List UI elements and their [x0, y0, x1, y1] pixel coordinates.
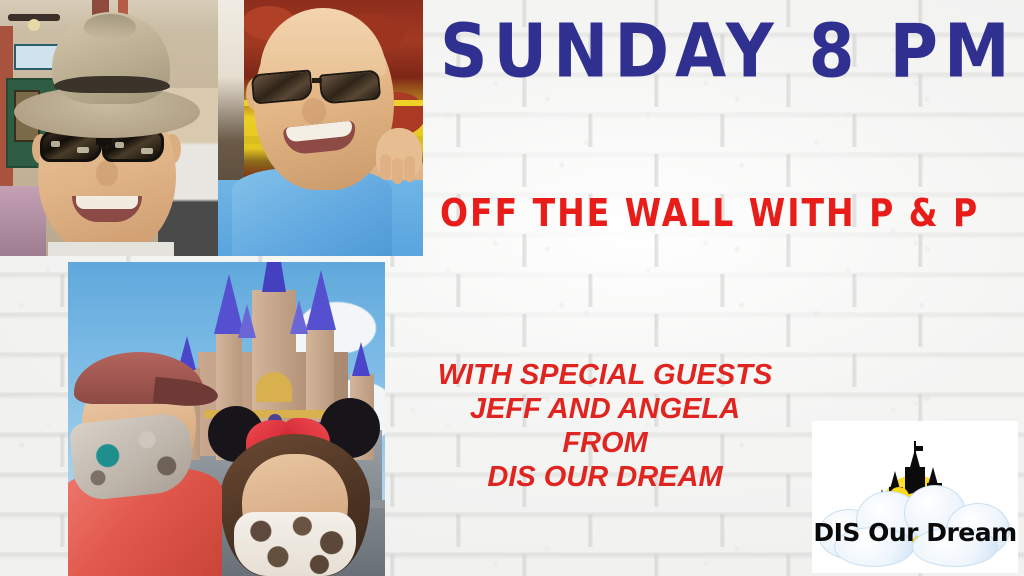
sunglass-lens-left — [251, 69, 313, 104]
finger — [392, 158, 403, 184]
finger — [380, 154, 391, 180]
boy-teeth — [76, 196, 138, 209]
guest-line-3: FROM — [410, 426, 800, 460]
castle-spire — [306, 270, 336, 330]
page-title: SUNDAY 8 PM — [440, 8, 1024, 94]
companion-hand — [376, 128, 422, 180]
woman-with-minnie-ears — [210, 412, 385, 576]
lens-glint — [77, 147, 89, 153]
photo-boy-fedora-sunglasses — [0, 0, 218, 256]
show-subtitle: OFF THE WALL WITH P & P — [440, 190, 1024, 235]
castle-flagpole — [914, 441, 916, 453]
finger — [404, 156, 415, 182]
dis-our-dream-logo: DIS Our Dream — [812, 421, 1018, 573]
promo-graphic: SUNDAY 8 PM OFF THE WALL WITH P & P WITH… — [0, 0, 1024, 576]
castle-gold-arch — [256, 372, 292, 402]
special-guests-block: WITH SPECIAL GUESTS JEFF AND ANGELA FROM… — [410, 358, 800, 494]
sunglass-lens-right — [319, 69, 381, 104]
lens-glint — [51, 141, 60, 147]
castle-spire — [352, 342, 370, 376]
logo-artwork: DIS Our Dream — [812, 421, 1018, 573]
woman-polka-dot-face-mask — [234, 512, 356, 576]
man-with-cap — [68, 356, 224, 576]
man-sunglasses-icon — [248, 72, 386, 104]
ceiling-fan-icon — [8, 14, 60, 21]
guest-line-2: JEFF AND ANGELA — [410, 392, 800, 426]
fedora-crease — [84, 14, 136, 40]
castle-spire — [262, 262, 286, 292]
castle-flag — [915, 446, 923, 451]
photo-man-blue-shirt-sunglasses — [218, 0, 423, 256]
castle-spire — [290, 300, 308, 334]
lens-glint — [115, 142, 124, 148]
lens-glint — [141, 148, 153, 154]
sunglass-bridge — [96, 138, 112, 145]
sunglass-bridge — [312, 78, 322, 83]
boy-shirt — [48, 242, 174, 256]
logo-wordmark: DIS Our Dream — [812, 518, 1018, 547]
castle-spire — [238, 304, 256, 338]
photo-couple-cinderella-castle-masks — [68, 262, 385, 576]
guest-line-1: WITH SPECIAL GUESTS — [410, 358, 800, 392]
guest-line-4: DIS OUR DREAM — [410, 460, 800, 494]
fedora-hat-band — [54, 76, 170, 93]
